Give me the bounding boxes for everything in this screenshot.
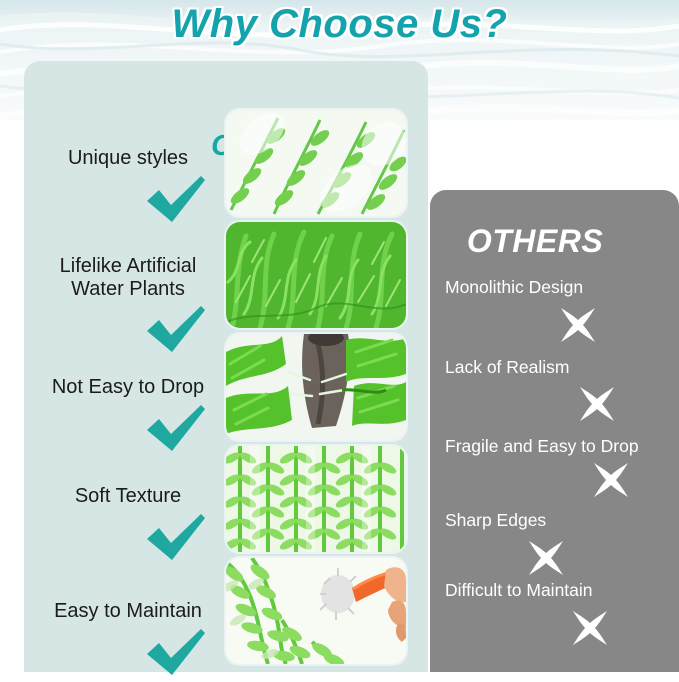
others-item-label-4: Sharp Edges	[445, 510, 546, 531]
others-item-label-2: Lack of Realism	[445, 357, 570, 378]
ours-panel: OURS Unique styles	[24, 61, 428, 672]
others-item-label-1: Monolithic Design	[445, 277, 583, 298]
ours-item-photo-2	[226, 222, 406, 328]
ours-item-label-3: Not Easy to Drop	[30, 376, 226, 399]
others-panel: OTHERS Monolithic Design Lack of Realism…	[430, 190, 679, 672]
ours-item-label-5: Easy to Maintain	[30, 600, 226, 623]
ours-item-label-2-line2: Water Plants	[30, 278, 226, 301]
ours-item-label-1: Unique styles	[30, 147, 226, 170]
page-title: Why Choose Us?	[0, 2, 679, 47]
check-icon	[145, 405, 207, 453]
ours-item-label-2: Lifelike Artificial Water Plants	[30, 255, 226, 301]
ours-item-photo-1	[226, 110, 406, 216]
x-icon	[591, 460, 631, 500]
others-heading: OTHERS	[430, 223, 640, 260]
ours-item-photo-5	[226, 558, 406, 664]
x-icon	[558, 305, 598, 345]
others-item-label-3: Fragile and Easy to Drop	[445, 436, 639, 457]
ours-item-label-4: Soft Texture	[30, 485, 226, 508]
x-icon	[526, 538, 566, 578]
ours-item-label-2-line1: Lifelike Artificial	[30, 255, 226, 278]
ours-item-photo-4	[226, 446, 406, 552]
others-item-label-5: Difficult to Maintain	[445, 580, 593, 601]
check-icon	[145, 514, 207, 562]
ours-item-photo-3	[226, 334, 406, 440]
x-icon	[577, 384, 617, 424]
check-icon	[145, 629, 207, 677]
check-icon	[145, 176, 207, 224]
x-icon	[570, 608, 610, 648]
check-icon	[145, 306, 207, 354]
